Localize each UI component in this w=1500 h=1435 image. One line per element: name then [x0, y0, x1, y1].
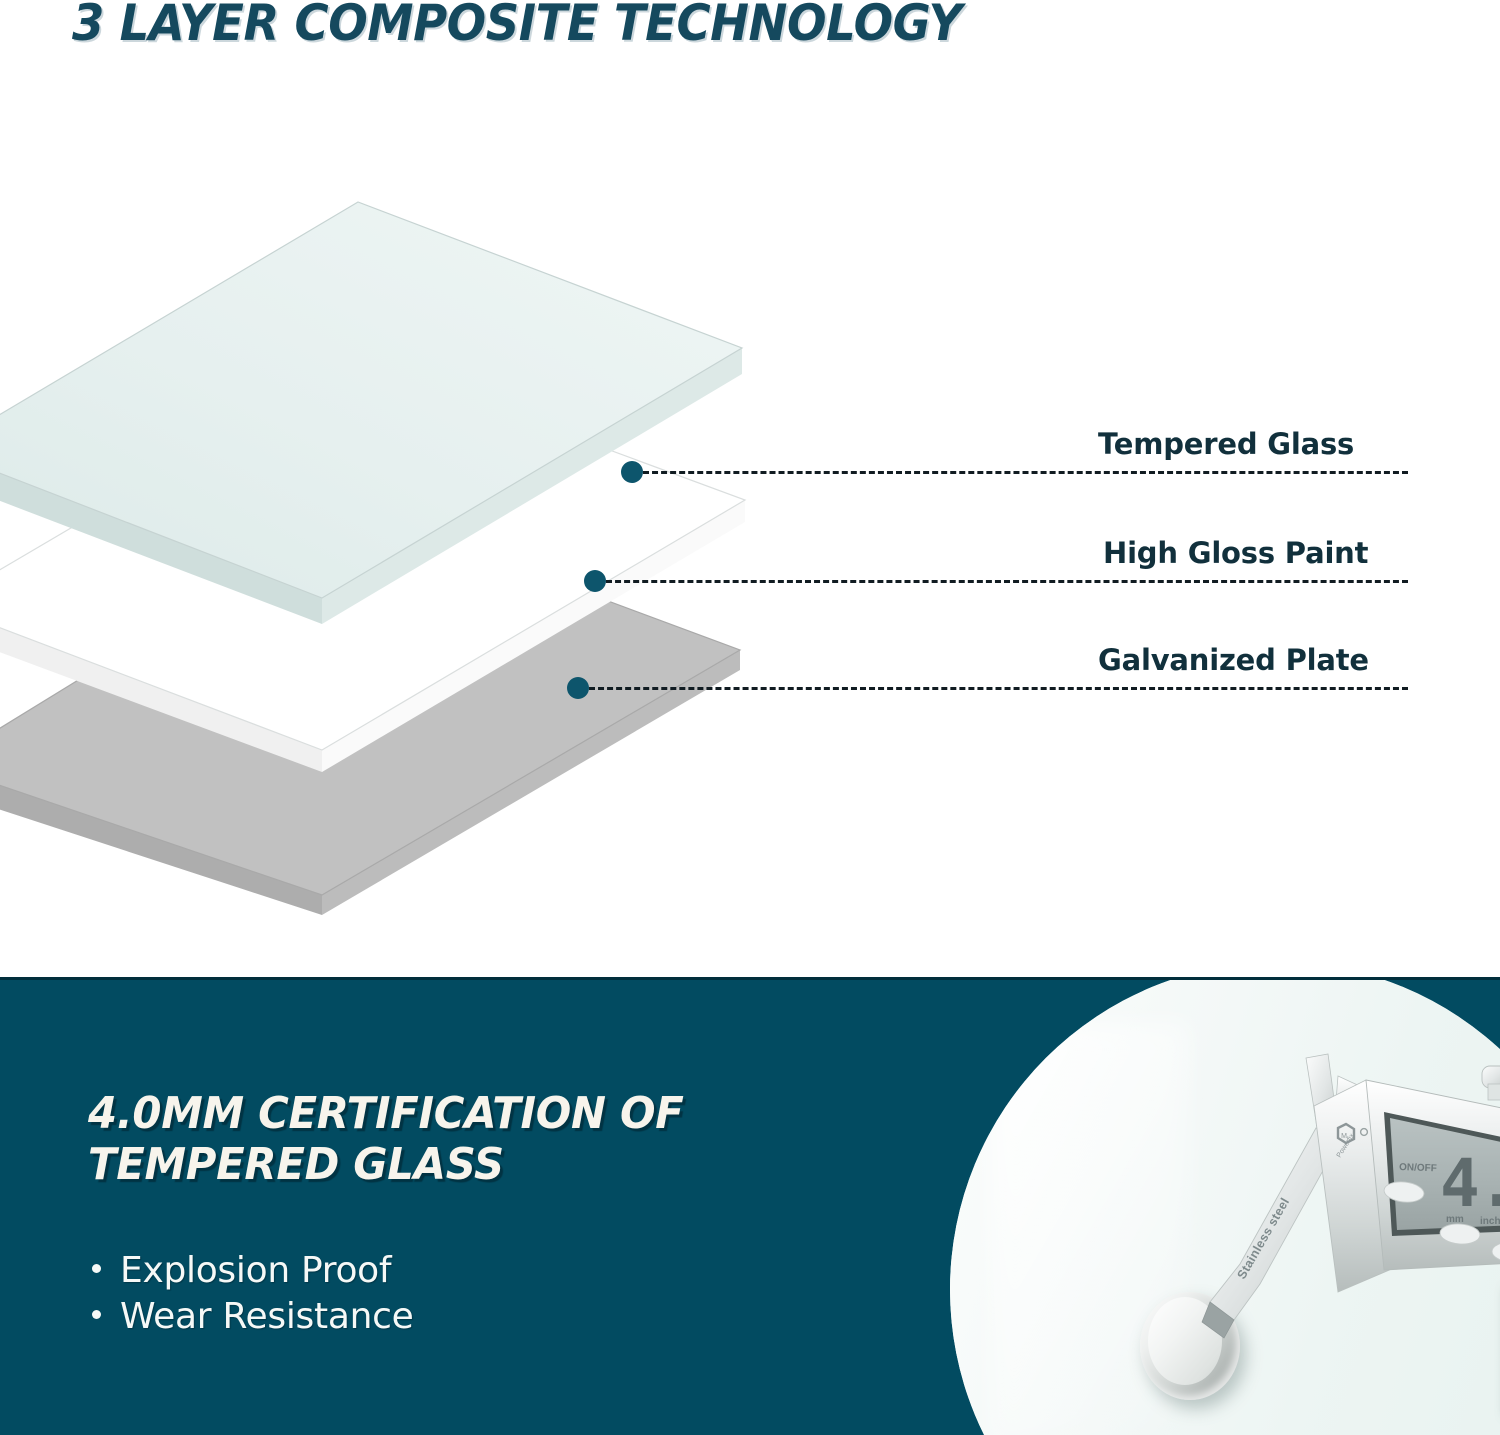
caliper-body: M Powerfix 4.00 mm ON/O — [1314, 1080, 1500, 1292]
list-item: Explosion Proof — [92, 1248, 413, 1294]
caliper-measuring-jaw: Stainless steel — [1202, 1128, 1340, 1338]
feature-bullet-list: Explosion Proof Wear Resistance — [92, 1248, 413, 1340]
caliper-lcd-label-inch: inch — [1480, 1216, 1500, 1227]
page-title: 3 LAYER COMPOSITE TECHNOLOGY — [72, 0, 962, 52]
bullet-dot-icon — [92, 1264, 101, 1273]
exploded-layer-stack — [0, 150, 960, 950]
callout-leader-tempered-glass — [643, 471, 1408, 474]
callout-label-high-gloss-paint: High Gloss Paint — [1103, 536, 1368, 570]
callout-dot-tempered-glass — [621, 461, 643, 483]
digital-caliper: Stainless steel M Powerfix — [1188, 1054, 1500, 1384]
caliper-lcd-reading: 4.00 — [1440, 1145, 1500, 1222]
bullet-dot-icon — [92, 1310, 101, 1319]
callout-leader-galvanized-plate — [589, 687, 1408, 690]
callout-label-galvanized-plate: Galvanized Plate — [1098, 643, 1369, 677]
panel-heading-line-1: 4.0MM CERTIFICATION OF — [88, 1088, 753, 1139]
callout-leader-high-gloss-paint — [606, 580, 1408, 583]
panel-heading-line-2: TEMPERED GLASS — [88, 1139, 753, 1190]
callout-dot-galvanized-plate — [567, 677, 589, 699]
infographic-page: 3 LAYER COMPOSITE TECHNOLOGY — [0, 0, 1500, 1435]
product-photo-clip: Stainless steel M Powerfix — [950, 980, 1500, 1435]
feature-label: Wear Resistance — [120, 1294, 413, 1340]
glass-board-thickness-photo: Stainless steel M Powerfix — [950, 980, 1500, 1435]
list-item: Wear Resistance — [92, 1294, 413, 1340]
caliper-lock-screw — [1482, 1066, 1500, 1100]
callout-dot-high-gloss-paint — [584, 570, 606, 592]
panel-heading: 4.0MM CERTIFICATION OF TEMPERED GLASS — [88, 1088, 753, 1190]
caliper-lcd-label-left: ON/OFF — [1399, 1162, 1437, 1174]
feature-label: Explosion Proof — [120, 1248, 391, 1294]
callout-label-tempered-glass: Tempered Glass — [1098, 427, 1354, 461]
caliper-lcd-label-mm: mm — [1446, 1214, 1464, 1225]
